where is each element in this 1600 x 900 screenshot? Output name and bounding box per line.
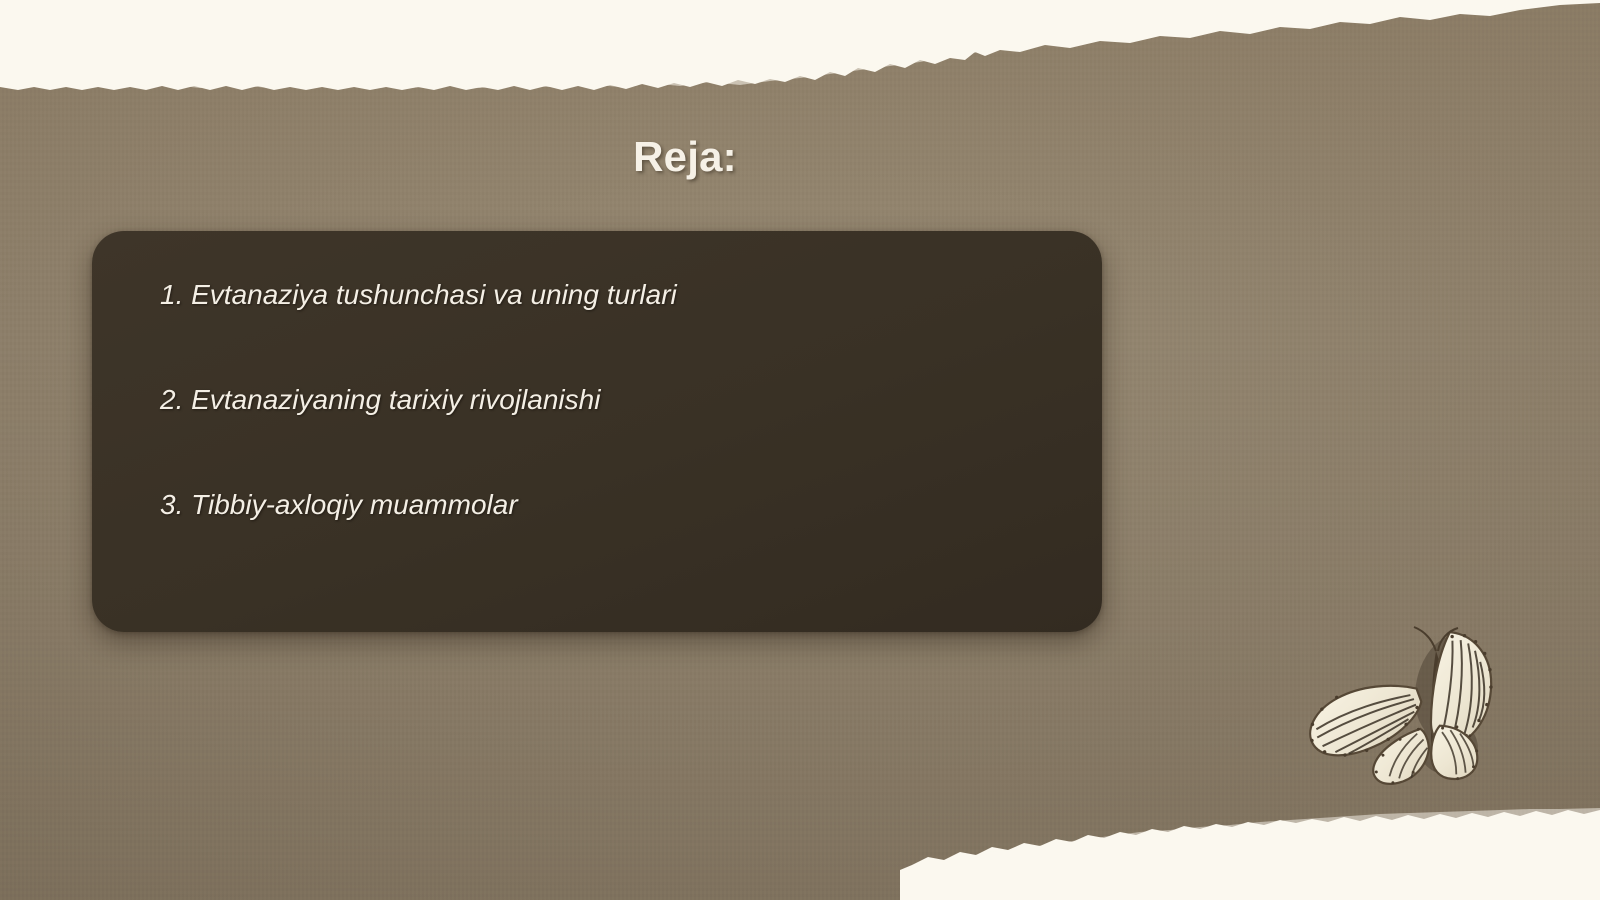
list-item: 3. Tibbiy-axloqiy muammolar [160, 487, 1052, 522]
presentation-slide: Reja: 1. Evtanaziya tushunchasi va uning… [0, 0, 1600, 900]
list-item: 1. Evtanaziya tushunchasi va uning turla… [160, 277, 1052, 312]
list-item: 2. Evtanaziyaning tarixiy rivojlanishi [160, 382, 1052, 417]
agenda-card: 1. Evtanaziya tushunchasi va uning turla… [92, 231, 1102, 632]
torn-paper-edge-top [0, 0, 1600, 130]
agenda-card-content: 1. Evtanaziya tushunchasi va uning turla… [92, 231, 1102, 632]
agenda-list: 1. Evtanaziya tushunchasi va uning turla… [160, 277, 1052, 522]
page-title: Reja: [0, 133, 1370, 181]
butterfly-icon [1298, 615, 1508, 805]
